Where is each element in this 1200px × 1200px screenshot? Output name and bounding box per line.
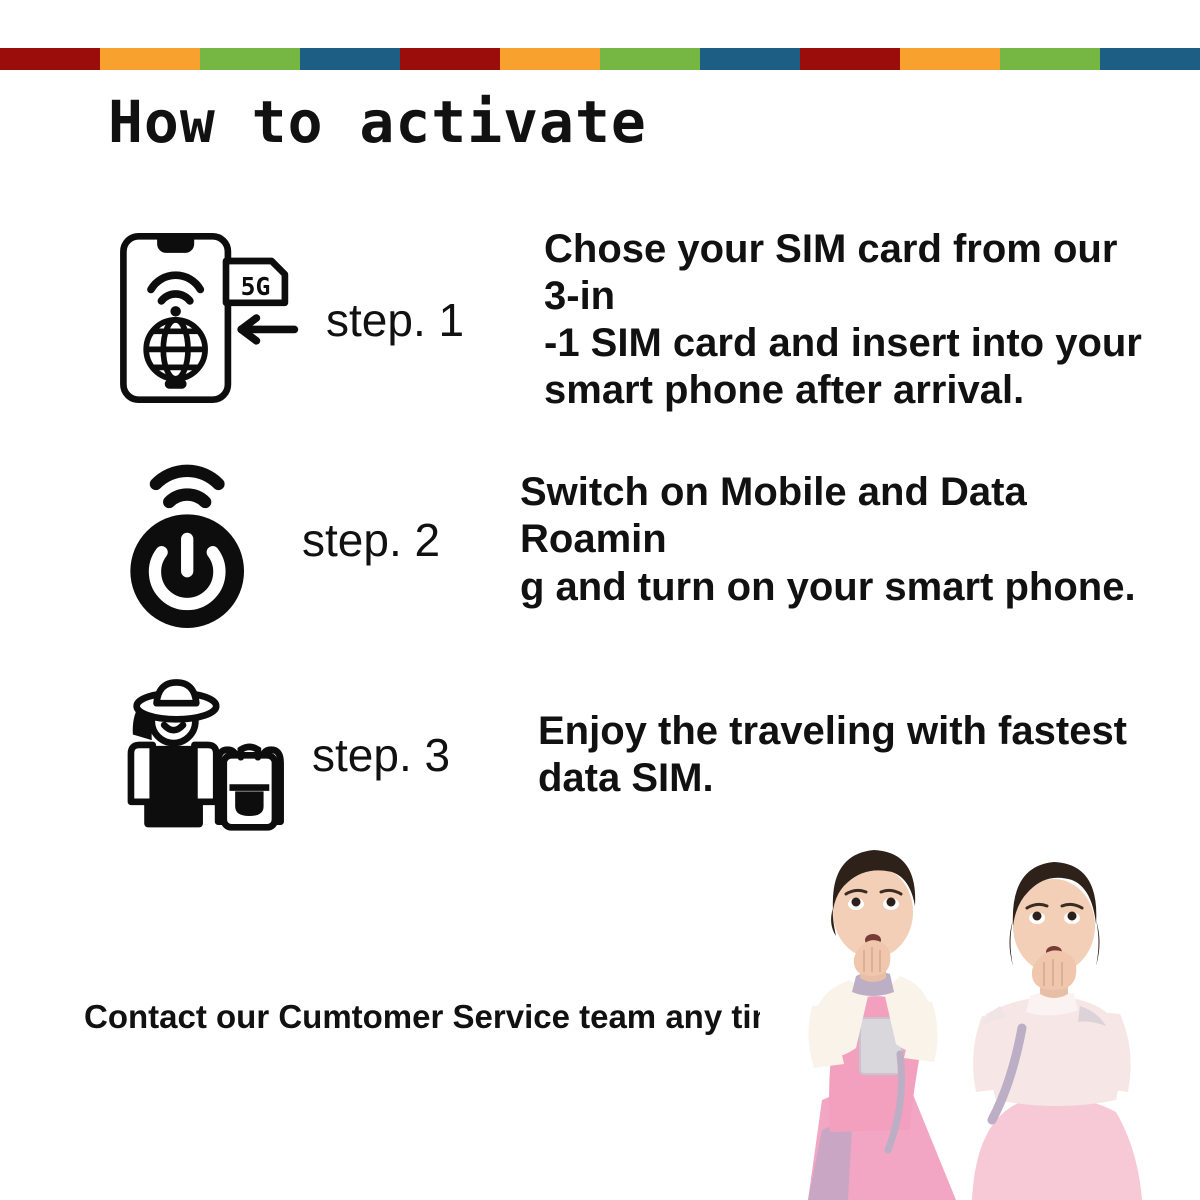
step-2-icon-wrap bbox=[112, 448, 302, 633]
smartphone-5g-sim-insert-icon: 5G bbox=[112, 223, 302, 418]
color-stripe-segment-12 bbox=[1100, 48, 1200, 70]
color-stripe-segment-8 bbox=[700, 48, 800, 70]
contact-line: Contact our Cumtomer Service team any ti… bbox=[84, 998, 821, 1036]
sim-5g-label: 5G bbox=[241, 272, 271, 301]
color-stripe-segment-9 bbox=[800, 48, 900, 70]
step-1-text: Chose your SIM card from our 3-in -1 SIM… bbox=[536, 226, 1200, 415]
color-stripe-segment-6 bbox=[500, 48, 600, 70]
power-wifi-roaming-icon bbox=[112, 448, 287, 633]
step-3-text: Enjoy the traveling with fastest data SI… bbox=[522, 708, 1200, 802]
color-stripe-segment-7 bbox=[600, 48, 700, 70]
step-1-label: step. 1 bbox=[302, 293, 536, 347]
step-row-2: step. 2 Switch on Mobile and Data Roamin… bbox=[0, 440, 1200, 640]
color-stripe-segment-1 bbox=[0, 48, 100, 70]
step-1-icon-wrap: 5G bbox=[112, 223, 302, 418]
color-stripe-segment-11 bbox=[1000, 48, 1100, 70]
step-2-label: step. 2 bbox=[302, 513, 512, 567]
step-2-text: Switch on Mobile and Data Roamin g and t… bbox=[512, 469, 1200, 611]
color-stripe-segment-3 bbox=[200, 48, 300, 70]
traveler-backpack-icon bbox=[112, 670, 292, 840]
color-stripe-segment-10 bbox=[900, 48, 1000, 70]
children-in-hanbok-photo bbox=[760, 800, 1200, 1200]
color-stripe-segment-2 bbox=[100, 48, 200, 70]
step-3-icon-wrap bbox=[112, 670, 302, 840]
color-stripe-segment-4 bbox=[300, 48, 400, 70]
page-title: How to activate bbox=[108, 92, 647, 153]
color-stripe-segment-5 bbox=[400, 48, 500, 70]
step-row-1: 5G step. 1 Chose your SIM card from our … bbox=[0, 215, 1200, 425]
step-3-label: step. 3 bbox=[302, 728, 522, 782]
decorative-color-stripe bbox=[0, 48, 1200, 70]
